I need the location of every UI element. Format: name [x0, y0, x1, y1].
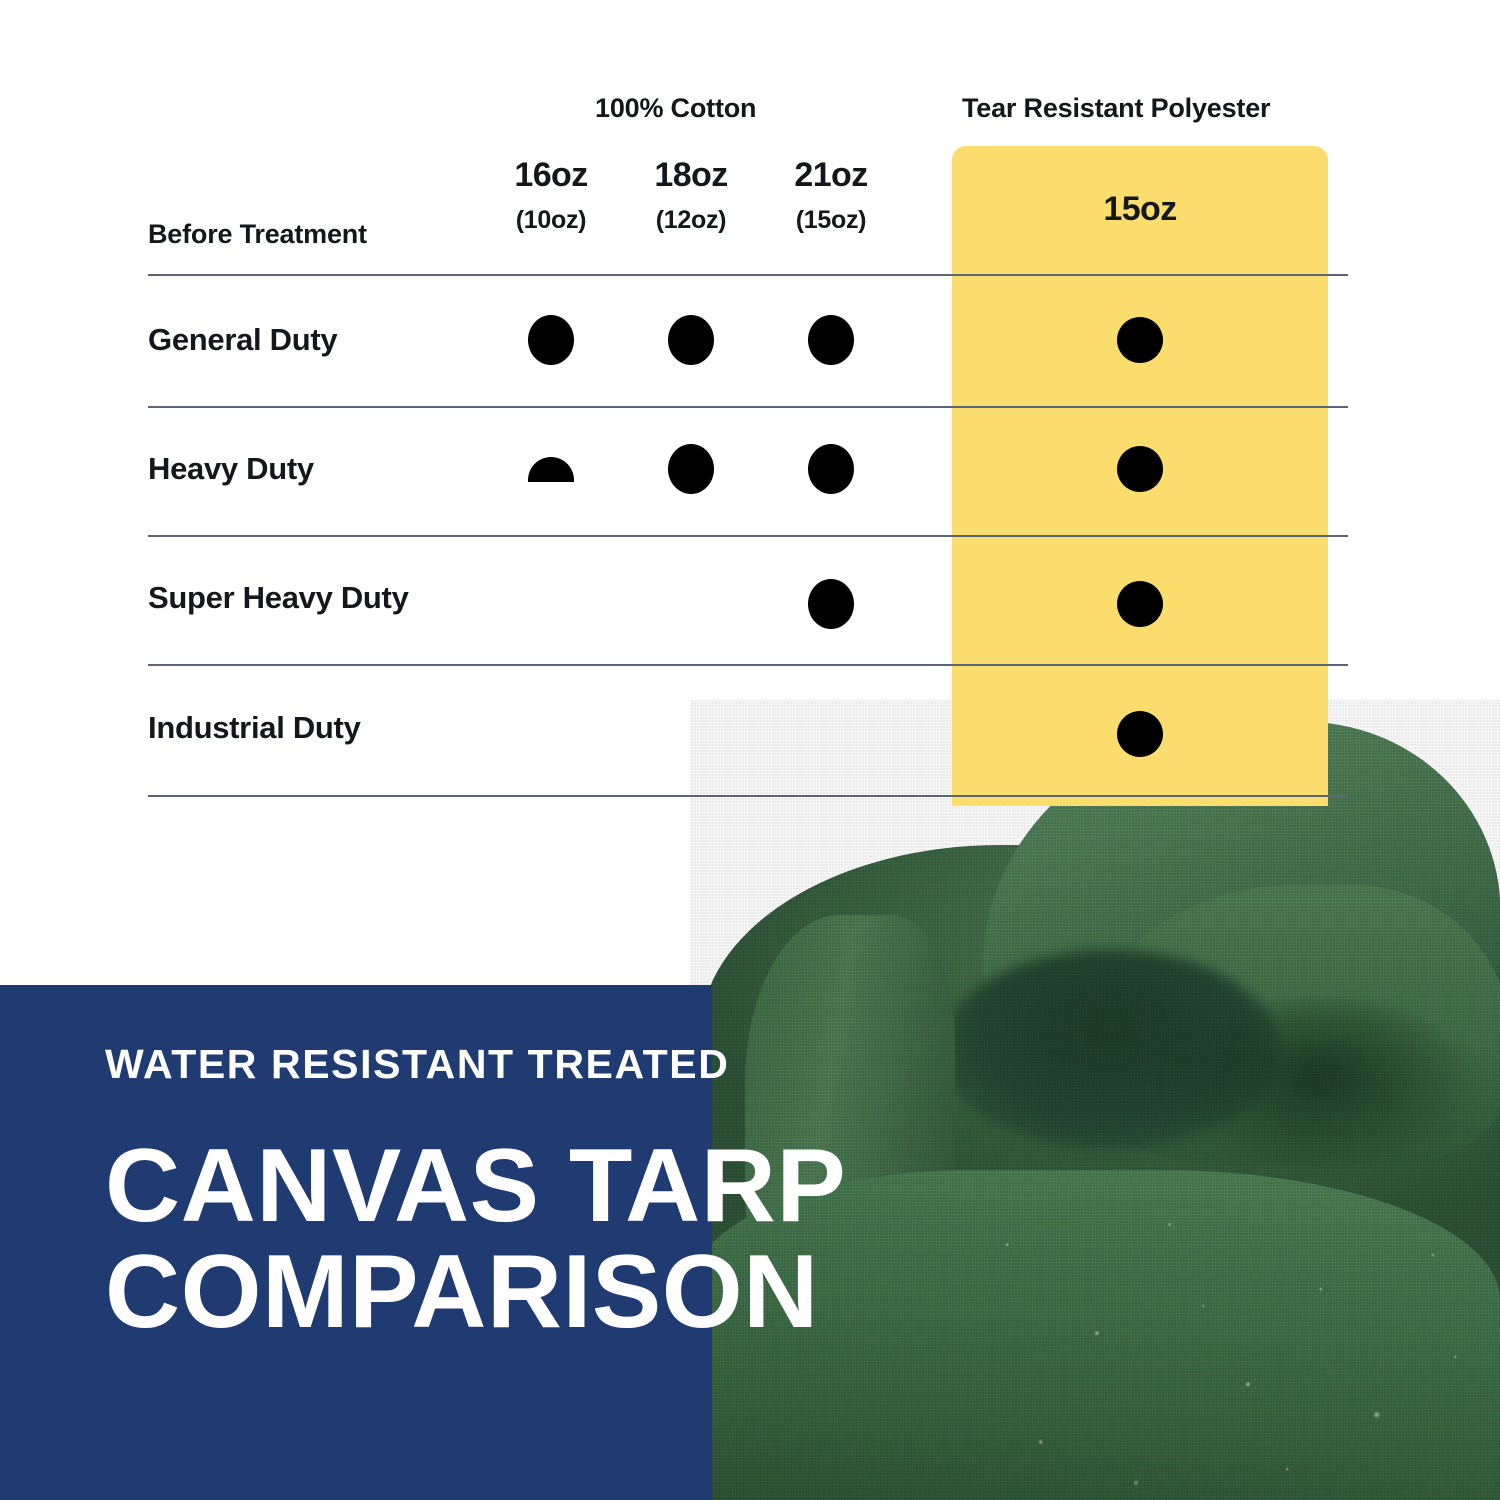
rating-mark-full	[808, 444, 854, 494]
group-header-cotton: 100% Cotton	[595, 93, 756, 124]
group-header-polyester: Tear Resistant Polyester	[962, 93, 1270, 124]
column-header-15oz-polyester: 15oz	[1070, 192, 1210, 226]
row-label-industrial-duty: Industrial Duty	[148, 710, 361, 746]
rating-mark-full	[1117, 711, 1163, 757]
title-block: WATER RESISTANT TREATED CANVAS TARP COMP…	[105, 1044, 1105, 1343]
rating-mark-full	[668, 315, 714, 365]
rating-mark-half	[528, 457, 574, 482]
column-weight-label: 15oz	[1070, 192, 1210, 226]
banner-eyebrow: WATER RESISTANT TREATED	[105, 1044, 1105, 1085]
column-treated-weight-label: (15oz)	[761, 208, 901, 233]
column-header-21oz: 21oz (15oz)	[761, 158, 901, 233]
column-weight-label: 18oz	[621, 158, 761, 192]
row-label-general-duty: General Duty	[148, 322, 337, 358]
column-weight-label: 16oz	[481, 158, 621, 192]
grid-line	[148, 274, 1348, 276]
row-axis-label: Before Treatment	[148, 219, 367, 250]
grid-line	[148, 664, 1348, 666]
rating-mark-full	[528, 315, 574, 365]
grid-line	[148, 795, 1348, 797]
rating-mark-full	[1117, 317, 1163, 363]
comparison-table: 100% Cotton Tear Resistant Polyester 16o…	[0, 0, 1500, 860]
column-treated-weight-label: (12oz)	[621, 208, 761, 233]
row-label-super-heavy-duty: Super Heavy Duty	[148, 580, 409, 616]
rating-mark-full	[808, 579, 854, 629]
rating-mark-full	[808, 315, 854, 365]
banner-headline-line-2: COMPARISON	[105, 1243, 1105, 1343]
grid-line	[148, 535, 1348, 537]
grid-line	[148, 406, 1348, 408]
column-header-18oz: 18oz (12oz)	[621, 158, 761, 233]
row-label-heavy-duty: Heavy Duty	[148, 451, 314, 487]
column-weight-label: 21oz	[761, 158, 901, 192]
rating-mark-full	[1117, 446, 1163, 492]
column-header-16oz: 16oz (10oz)	[481, 158, 621, 233]
rating-mark-full	[668, 444, 714, 494]
banner-headline-line-1: CANVAS TARP	[105, 1137, 1105, 1237]
column-treated-weight-label: (10oz)	[481, 208, 621, 233]
rating-mark-full	[1117, 581, 1163, 627]
